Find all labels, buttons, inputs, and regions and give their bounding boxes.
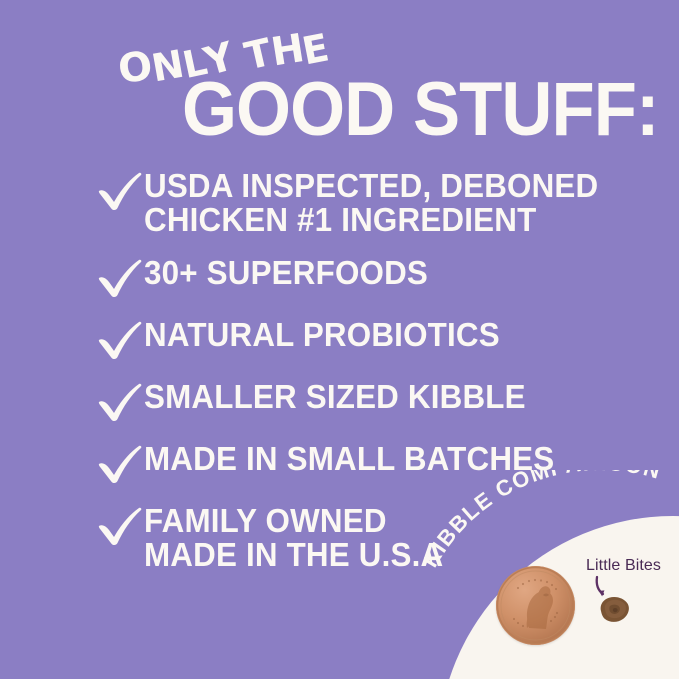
headline-block: O N L Y T H E GOOD STUFF: — [0, 0, 679, 150]
checkmark-icon — [96, 170, 144, 212]
little-bites-label: Little Bites — [586, 557, 661, 575]
checkmark-icon — [96, 443, 144, 485]
checkmark-icon — [96, 381, 144, 423]
list-item-label: SMALLER SIZED KIBBLE — [144, 379, 526, 414]
list-item: NATURAL PROBIOTICS — [96, 317, 636, 361]
benefits-list: USDA INSPECTED, DEBONED CHICKEN #1 INGRE… — [96, 168, 636, 590]
headline-char: E — [299, 28, 332, 70]
list-item: SMALLER SIZED KIBBLE — [96, 379, 636, 423]
checkmark-icon — [96, 319, 144, 361]
list-item-label: 30+ SUPERFOODS — [144, 255, 428, 290]
checkmark-icon — [96, 505, 144, 547]
list-item: FAMILY OWNED MADE IN THE U.S.A — [96, 503, 636, 572]
checkmark-icon — [96, 257, 144, 299]
kibble-piece-icon — [597, 595, 631, 625]
list-item-label: USDA INSPECTED, DEBONED CHICKEN #1 INGRE… — [144, 168, 598, 237]
product-benefits-poster: O N L Y T H E GOOD STUFF: USDA INSPECTED… — [0, 0, 679, 679]
list-item-label: FAMILY OWNED MADE IN THE U.S.A — [144, 503, 443, 572]
list-item-label: MADE IN SMALL BATCHES — [144, 441, 554, 476]
list-item: MADE IN SMALL BATCHES — [96, 441, 636, 485]
list-item: USDA INSPECTED, DEBONED CHICKEN #1 INGRE… — [96, 168, 636, 237]
headline-line-two: GOOD STUFF: — [182, 72, 659, 148]
us-penny-icon — [496, 566, 575, 645]
list-item: 30+ SUPERFOODS — [96, 255, 636, 299]
list-item-label: NATURAL PROBIOTICS — [144, 317, 500, 352]
